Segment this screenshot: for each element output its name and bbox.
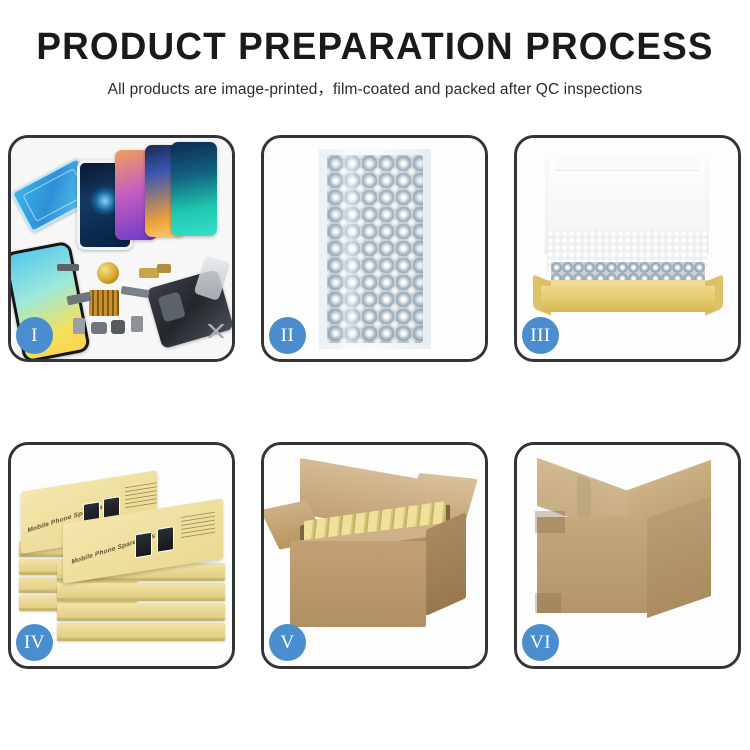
box-lid-phone-img-3 <box>135 532 152 559</box>
step-panel-iii[interactable]: III <box>514 135 741 362</box>
step-panel-ii[interactable]: II <box>261 135 488 362</box>
repair-tool <box>193 255 230 301</box>
small-part-2 <box>91 322 107 334</box>
step-panel-v[interactable]: V <box>261 442 488 669</box>
step-badge-iv: IV <box>16 624 53 661</box>
gold-contact-part-2 <box>157 264 171 273</box>
small-part-1 <box>73 318 85 334</box>
box-stack: Mobile Phone Spare Parts Mobile Phone Sp… <box>19 467 225 653</box>
speaker-bar-part <box>57 264 79 271</box>
small-part-3 <box>111 320 125 334</box>
sealed-carton-seam-lower <box>535 593 561 613</box>
process-steps-grid: I II III <box>8 135 742 669</box>
sealed-carton-side-face <box>647 496 711 618</box>
gold-coil-part <box>97 262 119 284</box>
bubble-wrap-highlight <box>337 149 363 349</box>
page-subtitle: All products are image-printed，film-coat… <box>0 77 750 99</box>
page-title: PRODUCT PREPARATION PROCESS <box>11 28 739 68</box>
bubble-wrap-pouch <box>319 149 431 349</box>
sealed-carton-seam-upper <box>535 511 565 533</box>
step-badge-vi: VI <box>522 624 559 661</box>
step-panel-i[interactable]: I <box>8 135 235 362</box>
carton-front-face <box>290 541 426 627</box>
step-panel-iv[interactable]: Mobile Phone Spare Parts Mobile Phone Sp… <box>8 442 235 669</box>
connector-grid-part <box>89 290 119 316</box>
flex-cable-right <box>121 286 150 298</box>
carton-side-face <box>426 512 466 616</box>
step-badge-v: V <box>269 624 306 661</box>
step-panel-vi[interactable]: VI <box>514 442 741 669</box>
screws-group <box>207 324 225 338</box>
teal-phone <box>171 142 217 236</box>
step-badge-i: I <box>16 317 53 354</box>
stack-box-r2 <box>57 583 225 601</box>
step-badge-iii: III <box>522 317 559 354</box>
step-badge-ii: II <box>269 317 306 354</box>
box-lid-spec-lines-2 <box>181 512 215 539</box>
gold-contact-part-1 <box>139 268 159 278</box>
stack-box-r4 <box>57 623 225 641</box>
box-lid-phone-img-4 <box>157 526 174 553</box>
box-lid-spec-lines-1 <box>125 482 157 509</box>
small-part-4 <box>131 316 143 332</box>
stack-box-r3 <box>57 603 225 621</box>
page-header: PRODUCT PREPARATION PROCESS All products… <box>0 0 750 99</box>
mailer-tray-front-wall <box>541 286 715 312</box>
